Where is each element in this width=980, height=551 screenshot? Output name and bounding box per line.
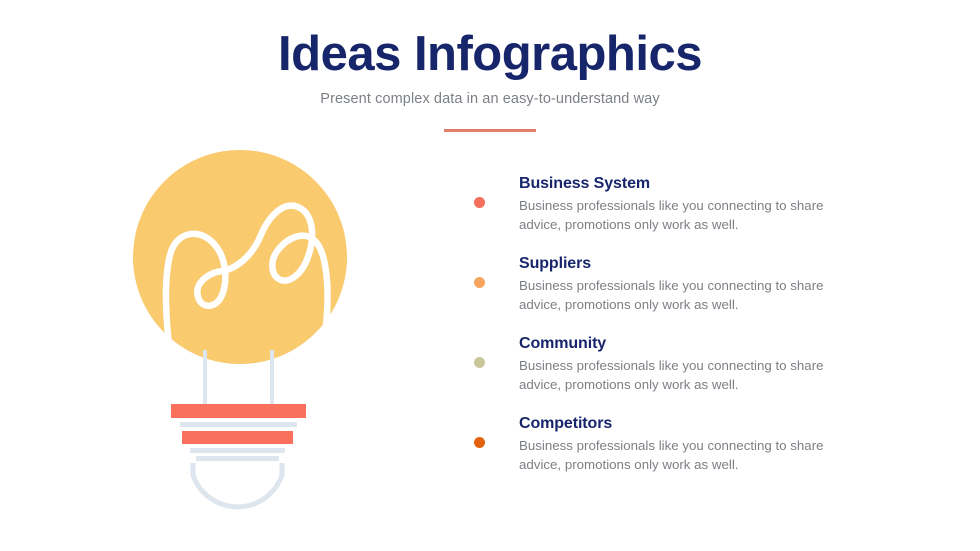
bullet-icon (474, 277, 485, 288)
list-item-text: Business professionals like you connecti… (519, 197, 849, 235)
list-item[interactable]: Community Business professionals like yo… (462, 335, 942, 415)
bulb-base-bar-neutral-3 (196, 456, 279, 461)
bulb-screw-base (193, 463, 282, 507)
feature-list: Business System Business professionals l… (462, 175, 942, 495)
bullet-icon (474, 357, 485, 368)
lightbulb-illustration (118, 145, 368, 535)
list-item-text: Business professionals like you connecti… (519, 277, 849, 315)
bulb-neck-line-left (203, 350, 207, 405)
bulb-base-bar-wide (171, 404, 306, 418)
bulb-base-bar-neutral-2 (190, 448, 285, 453)
bulb-base-bar-neutral-1 (180, 422, 297, 427)
list-item-heading: Competitors (519, 415, 942, 433)
list-item-body: Business System Business professionals l… (519, 175, 942, 235)
list-item-heading: Community (519, 335, 942, 353)
list-item-text: Business professionals like you connecti… (519, 437, 849, 475)
list-item[interactable]: Business System Business professionals l… (462, 175, 942, 255)
list-item-body: Community Business professionals like yo… (519, 335, 942, 395)
page-subtitle: Present complex data in an easy-to-under… (0, 91, 980, 107)
slide-header: Ideas Infographics Present complex data … (0, 28, 980, 107)
list-item[interactable]: Suppliers Business professionals like yo… (462, 255, 942, 335)
bulb-neck-line-right (270, 350, 274, 405)
list-item[interactable]: Competitors Business professionals like … (462, 415, 942, 495)
list-item-body: Competitors Business professionals like … (519, 415, 942, 475)
page-title: Ideas Infographics (0, 28, 980, 81)
list-item-heading: Business System (519, 175, 942, 193)
bullet-icon (474, 437, 485, 448)
bullet-icon (474, 197, 485, 208)
bulb-base-bar-narrow (182, 431, 293, 444)
list-item-body: Suppliers Business professionals like yo… (519, 255, 942, 315)
slide-canvas: Ideas Infographics Present complex data … (0, 0, 980, 551)
list-item-text: Business professionals like you connecti… (519, 357, 849, 395)
list-item-heading: Suppliers (519, 255, 942, 273)
title-divider (444, 129, 536, 132)
